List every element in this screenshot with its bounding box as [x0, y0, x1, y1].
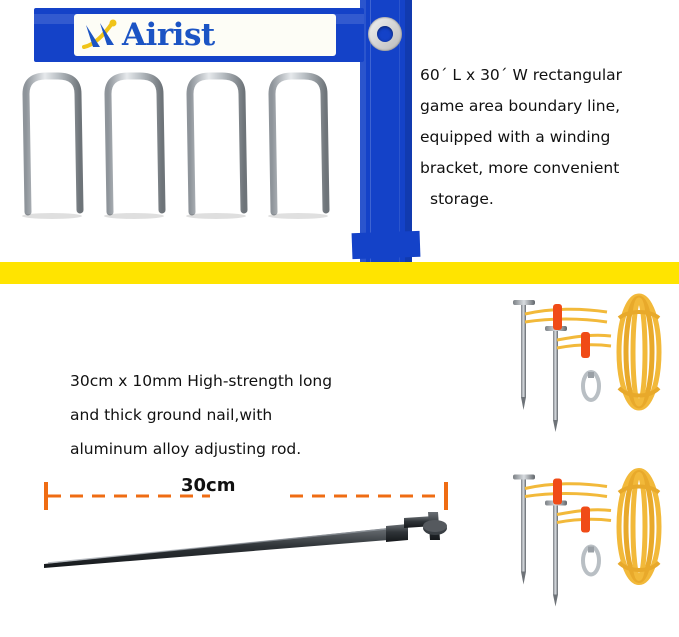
- top-caption: 60´ L x 30´ W rectangular game area boun…: [420, 60, 670, 215]
- tensioner: [581, 507, 590, 533]
- top-caption-line-5: storage.: [420, 184, 670, 215]
- carabiner-icon: [583, 372, 599, 400]
- blue-logo-strap: Airist: [34, 8, 364, 62]
- strap-shadow-right: [405, 0, 412, 262]
- top-caption-line-4: bracket, more convenient: [420, 153, 670, 184]
- bottom-caption-line-1: 30cm x 10mm High-strength long: [70, 364, 470, 398]
- top-product-panel: Airist 60´ L x 30´ W rectangular game ar…: [0, 0, 679, 262]
- yellow-divider: [0, 262, 679, 284]
- tensioner: [553, 479, 562, 505]
- ground-staples-group: [6, 60, 358, 230]
- brand-logo: Airist: [74, 14, 336, 56]
- bottom-caption-line-3: aluminum alloy adjusting rod.: [70, 432, 470, 466]
- stake: [545, 326, 567, 432]
- ground-staple-icon: [6, 60, 358, 230]
- brand-name: Airist: [122, 17, 215, 53]
- tensioner: [581, 332, 590, 358]
- grommet-eyelet-icon: [368, 17, 402, 51]
- rope-and-stake-kit: [495, 292, 675, 432]
- top-caption-line-1: 60´ L x 30´ W rectangular: [420, 60, 670, 91]
- coiled-rope-icon: [619, 471, 659, 583]
- stake: [513, 300, 535, 410]
- bottom-caption: 30cm x 10mm High-strength long and thick…: [70, 364, 470, 466]
- stake: [513, 475, 535, 585]
- ground-nail-icon: [36, 506, 466, 576]
- dimension-label: 30cm: [181, 475, 235, 496]
- stake: [545, 501, 567, 607]
- top-caption-line-2: game area boundary line,: [420, 91, 670, 122]
- grommet-hole: [377, 26, 393, 42]
- bottom-product-panel: 30cm x 10mm High-strength long and thick…: [0, 284, 679, 637]
- bottom-caption-line-2: and thick ground nail,with: [70, 398, 470, 432]
- swoosh-logo-icon: [80, 17, 120, 53]
- top-caption-line-3: equipped with a winding: [420, 122, 670, 153]
- carabiner-icon: [583, 547, 599, 575]
- rope-and-stake-kit: [495, 464, 675, 609]
- strap-folded-tail: [352, 231, 421, 259]
- tensioner: [553, 304, 562, 330]
- coiled-rope-icon: [619, 296, 659, 408]
